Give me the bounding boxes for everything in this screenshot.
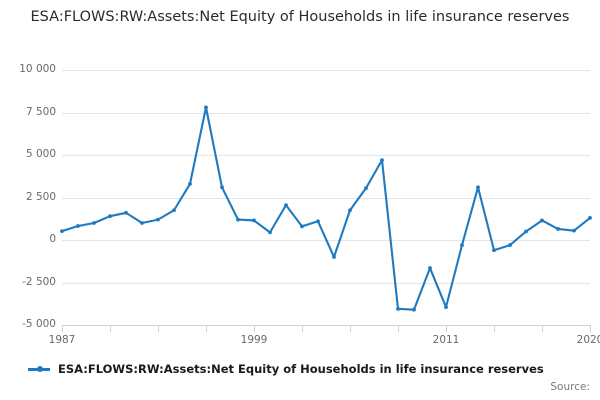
y-axis-tick-label: -5 000: [4, 318, 56, 330]
y-axis-tick-label: 0: [4, 233, 56, 245]
x-axis-tick: [590, 325, 591, 332]
legend-item-label: ESA:FLOWS:RW:Assets:Net Equity of Househ…: [58, 362, 544, 376]
x-axis-tick: [110, 325, 111, 332]
x-axis-tick: [62, 325, 63, 332]
x-axis-tick: [446, 325, 447, 332]
gridline: [62, 113, 590, 114]
plot-area: [62, 70, 590, 325]
y-axis-tick-label: -2 500: [4, 276, 56, 288]
x-axis-tick: [302, 325, 303, 332]
source-label: Source:: [550, 381, 590, 393]
chart-container: ESA:FLOWS:RW:Assets:Net Equity of Househ…: [0, 0, 600, 400]
x-axis-tick: [158, 325, 159, 332]
x-axis-line: [62, 325, 590, 326]
x-axis-tick: [254, 325, 255, 332]
x-axis-tick: [350, 325, 351, 332]
x-axis-tick-label: 1999: [241, 334, 268, 346]
x-axis-tick-label: 2011: [433, 334, 460, 346]
gridline: [62, 240, 590, 241]
x-axis-tick: [542, 325, 543, 332]
gridline: [62, 70, 590, 71]
y-axis: 10 0007 5005 0002 5000-2 500-5 000: [0, 70, 56, 325]
x-axis-tick: [398, 325, 399, 332]
x-axis-tick: [206, 325, 207, 332]
gridline: [62, 283, 590, 284]
y-axis-tick-label: 2 500: [4, 191, 56, 203]
gridline: [62, 155, 590, 156]
x-axis-tick-label: 1987: [49, 334, 76, 346]
legend-line-icon: [28, 364, 50, 375]
chart-title: ESA:FLOWS:RW:Assets:Net Equity of Househ…: [30, 8, 570, 28]
x-axis-tick: [494, 325, 495, 332]
y-axis-tick-label: 5 000: [4, 148, 56, 160]
gridline: [62, 198, 590, 199]
y-axis-tick-label: 10 000: [4, 63, 56, 75]
x-axis-tick-label: 2020: [577, 334, 600, 346]
y-axis-tick-label: 7 500: [4, 106, 56, 118]
chart-legend[interactable]: ESA:FLOWS:RW:Assets:Net Equity of Househ…: [28, 362, 544, 376]
